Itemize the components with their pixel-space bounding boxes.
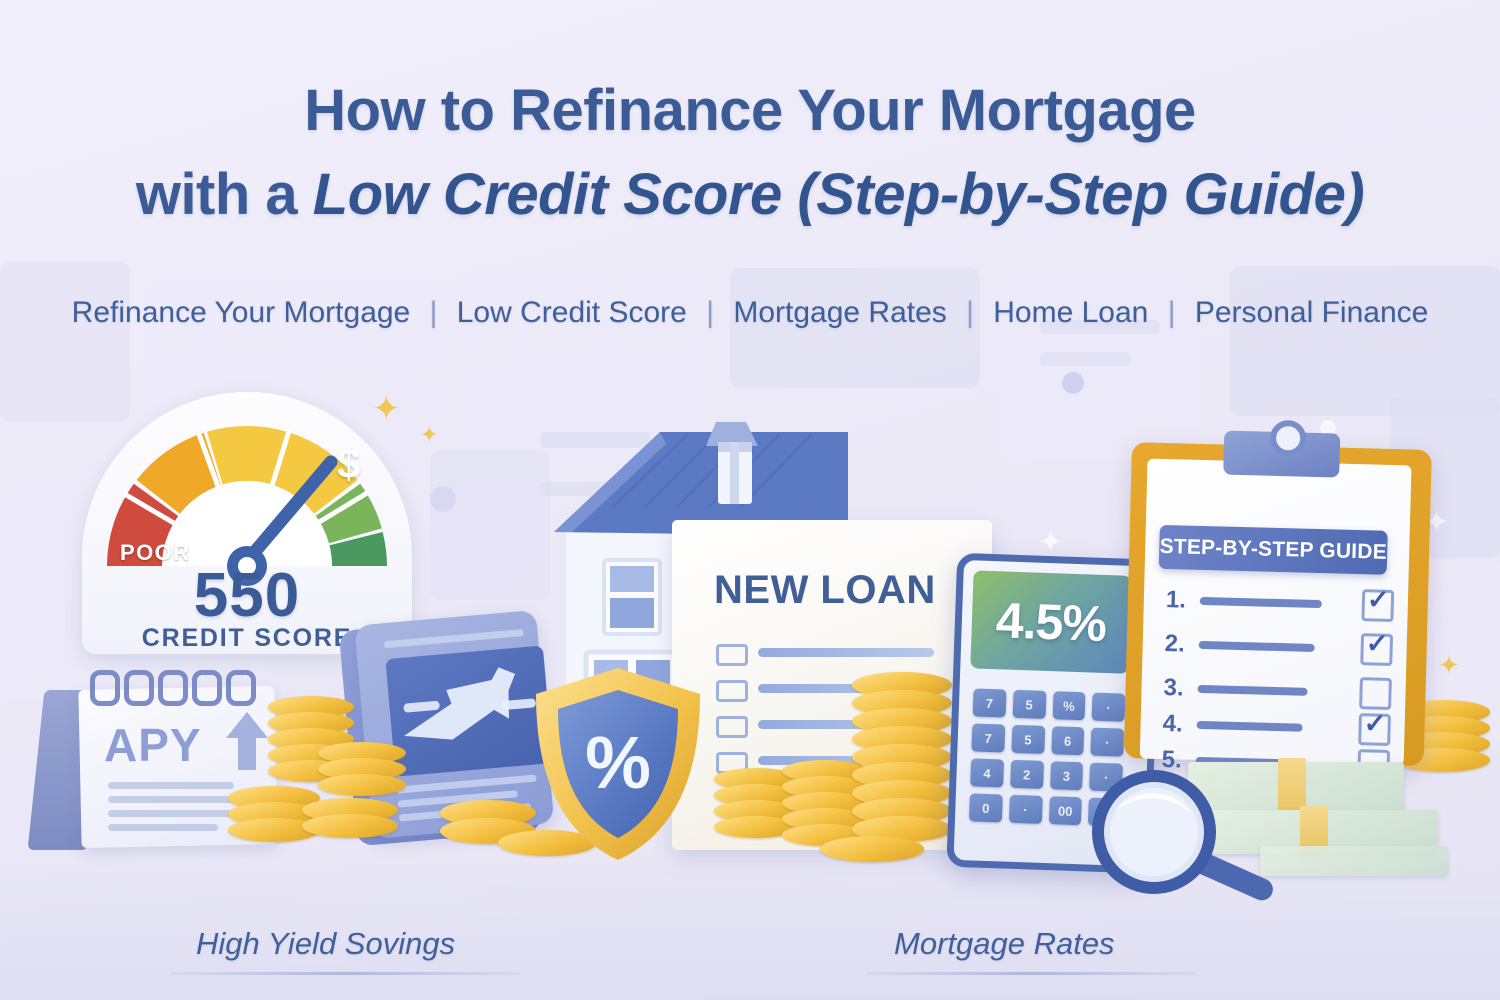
spiral-ring-icon bbox=[192, 670, 222, 706]
bg-card bbox=[1230, 266, 1500, 416]
apy-text-line bbox=[108, 782, 234, 789]
calc-key[interactable]: 5 bbox=[1011, 725, 1045, 754]
doc-line bbox=[758, 648, 934, 657]
svg-text:%: % bbox=[585, 721, 651, 804]
keyword-separator: | bbox=[955, 296, 985, 329]
spiral-ring-icon bbox=[90, 670, 120, 706]
title-line-2: with a Low Credit Score (Step-by-Step Gu… bbox=[0, 166, 1500, 224]
doc-checkbox bbox=[716, 644, 748, 666]
calc-key[interactable]: 00 bbox=[1048, 796, 1082, 825]
shield-svg: % bbox=[528, 664, 708, 864]
keyword-separator: | bbox=[695, 296, 725, 329]
apy-text-line bbox=[108, 796, 234, 803]
calc-key[interactable]: 0 bbox=[969, 793, 1003, 822]
title-line-1: How to Refinance Your Mortgage bbox=[0, 82, 1500, 140]
keyword-2: Mortgage Rates bbox=[733, 296, 946, 329]
credit-score-value: 550 bbox=[82, 560, 412, 631]
caption-left-underline bbox=[170, 972, 520, 975]
clipboard-paper: STEP-BY-STEP GUIDE 1. ✓ 2. ✓ 3. 4. ✓ bbox=[1140, 459, 1412, 766]
coin bbox=[318, 774, 406, 796]
keyword-separator: | bbox=[419, 296, 449, 329]
caption-right: Mortgage Rates bbox=[894, 926, 1115, 962]
clipboard-item-checkbox[interactable] bbox=[1359, 677, 1392, 710]
calc-key[interactable]: · bbox=[1092, 693, 1126, 722]
bg-dot bbox=[430, 486, 456, 512]
apy-text-line bbox=[108, 810, 234, 817]
clipboard-item-checkbox[interactable]: ✓ bbox=[1361, 589, 1394, 622]
sparkle-icon: ✦ bbox=[420, 424, 438, 446]
calc-key[interactable]: 2 bbox=[1010, 760, 1044, 789]
cash-stack bbox=[1260, 846, 1448, 876]
calc-key[interactable]: % bbox=[1052, 691, 1086, 720]
calc-key[interactable]: 6 bbox=[1051, 726, 1085, 755]
calc-key[interactable]: 5 bbox=[1012, 690, 1046, 719]
doc-checkbox bbox=[716, 716, 748, 738]
step-by-step-clipboard: STEP-BY-STEP GUIDE 1. ✓ 2. ✓ 3. 4. ✓ bbox=[1124, 428, 1433, 766]
bg-card bbox=[430, 450, 550, 600]
clipboard-header-text: STEP-BY-STEP GUIDE bbox=[1159, 535, 1387, 565]
arrow-up-icon bbox=[224, 710, 270, 772]
clipboard-item-number: 1. bbox=[1166, 586, 1201, 615]
doc-checkbox bbox=[716, 680, 748, 702]
clipboard-item-number: 4. bbox=[1162, 710, 1197, 739]
spiral-ring-icon bbox=[158, 670, 188, 706]
check-icon: ✓ bbox=[1363, 710, 1386, 738]
keyword-1: Low Credit Score bbox=[457, 296, 687, 329]
keyword-3: Home Loan bbox=[993, 296, 1148, 329]
magnifier-icon bbox=[1088, 770, 1288, 910]
keyword-0: Refinance Your Mortgage bbox=[72, 296, 411, 329]
keyword-bar: Refinance Your Mortgage | Low Credit Sco… bbox=[0, 296, 1500, 330]
coin bbox=[302, 814, 398, 838]
hero-illustration: ✦ ✦ ✦ ✦ ✦ ✦ How to Refinance Your Mortga… bbox=[0, 0, 1500, 1000]
calc-key[interactable]: 3 bbox=[1050, 761, 1084, 790]
calc-key[interactable]: 4 bbox=[970, 758, 1004, 787]
sparkle-icon: ✦ bbox=[1038, 528, 1063, 558]
check-icon: ✓ bbox=[1365, 630, 1388, 658]
page-title: How to Refinance Your Mortgage with a Lo… bbox=[0, 82, 1500, 224]
bg-line bbox=[1040, 352, 1130, 366]
clipboard-item[interactable]: 2. ✓ bbox=[1164, 629, 1401, 665]
spiral-ring-icon bbox=[124, 670, 154, 706]
apy-label: APY bbox=[104, 718, 202, 772]
bg-dot bbox=[1062, 372, 1084, 394]
clipboard-item-bar bbox=[1199, 641, 1315, 652]
title-line-2-plain: with a bbox=[136, 162, 313, 227]
apy-text-line bbox=[108, 824, 218, 831]
clipboard-item-bar bbox=[1197, 721, 1303, 732]
spiral-ring-icon bbox=[226, 670, 256, 706]
calc-key[interactable]: · bbox=[1009, 795, 1043, 824]
sparkle-icon: ✦ bbox=[1438, 652, 1460, 678]
calculator-display-value: 4.5% bbox=[995, 591, 1107, 653]
title-line-2-emphasis: Low Credit Score (Step-by-Step Guide) bbox=[313, 162, 1364, 227]
clipboard-item[interactable]: 4. ✓ bbox=[1162, 709, 1399, 745]
clipboard-item-checkbox[interactable]: ✓ bbox=[1358, 713, 1391, 746]
caption-left: High Yield Sovings bbox=[196, 926, 455, 962]
clipboard-item[interactable]: 1. ✓ bbox=[1165, 585, 1402, 621]
tablet-line bbox=[384, 629, 524, 648]
caption-right-underline bbox=[866, 972, 1196, 975]
clipboard-item-number: 2. bbox=[1164, 630, 1199, 659]
credit-score-gauge: POOR $ 550 CREDIT SCORE bbox=[82, 392, 412, 654]
clipboard-item-bar bbox=[1197, 685, 1307, 696]
coin bbox=[820, 836, 924, 862]
clipboard-item-number: 3. bbox=[1163, 674, 1198, 703]
clipboard-item-bar bbox=[1200, 597, 1322, 608]
clipboard-item[interactable]: 3. bbox=[1163, 673, 1400, 709]
dollar-icon: $ bbox=[337, 440, 360, 488]
calc-key[interactable]: 7 bbox=[971, 723, 1005, 752]
calculator-display: 4.5% bbox=[970, 570, 1131, 673]
percent-shield-badge: % bbox=[528, 664, 708, 864]
loan-document-title: NEW LOAN bbox=[714, 568, 936, 613]
calc-key[interactable]: · bbox=[1091, 728, 1125, 757]
check-icon: ✓ bbox=[1367, 586, 1390, 614]
keyword-separator: | bbox=[1157, 296, 1187, 329]
clipboard-header: STEP-BY-STEP GUIDE bbox=[1159, 525, 1388, 575]
clipboard-item-checkbox[interactable]: ✓ bbox=[1360, 633, 1393, 666]
magnifying-glass bbox=[1088, 770, 1288, 910]
keyword-4: Personal Finance bbox=[1195, 296, 1428, 329]
calc-key[interactable]: 7 bbox=[973, 688, 1007, 717]
